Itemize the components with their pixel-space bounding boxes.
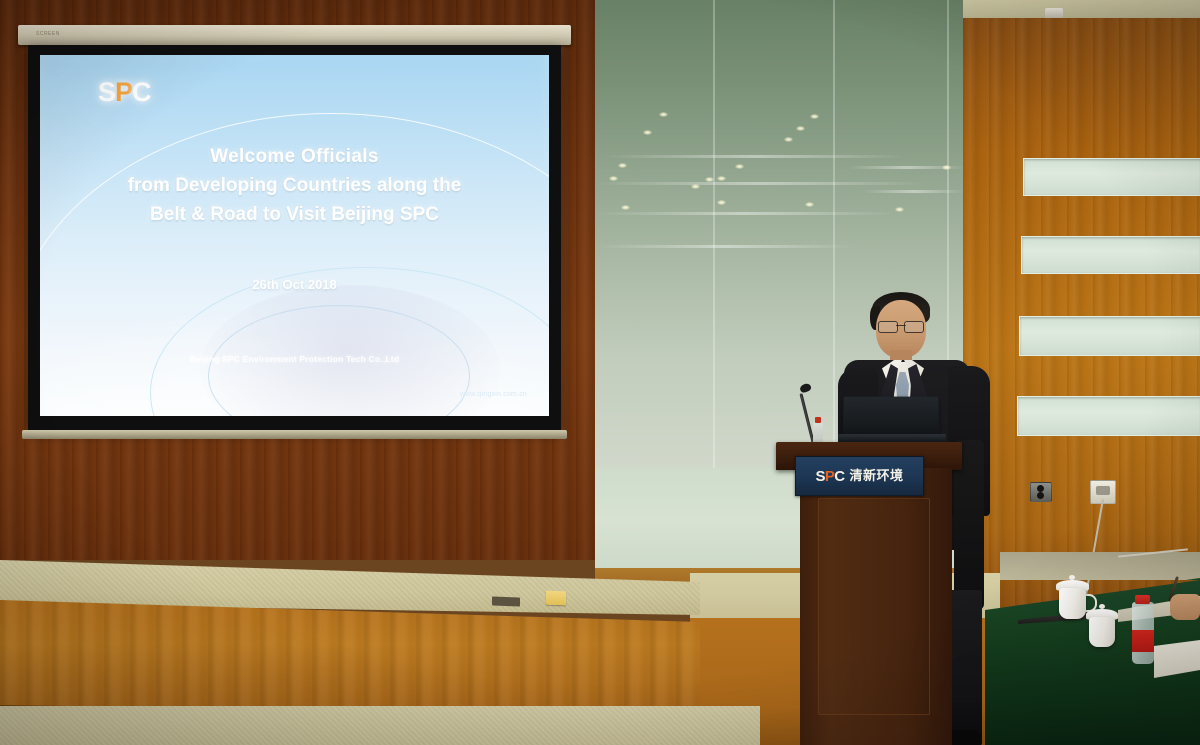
wall-glass-inset [1021, 236, 1200, 274]
speaker-legs [948, 590, 982, 740]
back-wall-strip [1000, 552, 1200, 580]
water-bottle-label [1132, 630, 1154, 652]
slide-title-line-2: from Developing Countries along the [54, 172, 535, 201]
wall-glass-inset [1019, 316, 1200, 356]
reflected-downlight [618, 163, 627, 168]
reflected-downlight [705, 177, 714, 182]
reflected-downlight [805, 202, 814, 207]
presentation-slide: SPC Welcome Officials from Developing Co… [40, 55, 549, 416]
wall-glass-inset [1023, 158, 1200, 196]
reflected-downlight [643, 130, 652, 135]
teacup [1059, 588, 1086, 619]
reflected-downlight [784, 137, 793, 142]
right-wood-wall [963, 18, 1200, 618]
water-bottle-cap [1135, 595, 1150, 604]
screen-case-label: SCREEN [36, 31, 60, 37]
reflected-downlight [942, 165, 951, 170]
podium-front-panel [818, 498, 930, 715]
podium-logo-c: C [834, 468, 844, 485]
reflected-downlight [735, 164, 744, 169]
wall-glass-inset [1017, 396, 1200, 436]
av-outlet-icon[interactable] [1030, 482, 1052, 502]
glass-mullion [833, 0, 835, 470]
podium-spc-logo: SPC [815, 469, 844, 484]
podium-logo-s: S [815, 468, 824, 485]
reflected-downlight [717, 200, 726, 205]
ceiling-reflection-strip [595, 245, 855, 248]
slide-title-line-1: Welcome Officials [54, 143, 535, 172]
spc-logo: SPC [98, 77, 151, 108]
teacup [1089, 617, 1115, 647]
reflected-downlight [717, 176, 726, 181]
slide-date: 26th Oct 2018 [40, 277, 549, 292]
glasses-lens-left [878, 321, 898, 333]
conference-photo: SCREEN SPC Welcome Officials from Develo… [0, 0, 1200, 745]
projection-screen-case: SCREEN [18, 25, 571, 45]
stage-floor-plate [492, 597, 520, 607]
podium-brand-plaque: SPC 清新环境 [795, 456, 924, 496]
slide-company-name: Beijing SPC Environment Protection Tech … [40, 354, 549, 364]
ceiling-reflection-strip [605, 155, 905, 158]
ceiling-reflection-strip [595, 182, 925, 185]
slide-title-line-3: Belt & Road to Visit Beijing SPC [54, 201, 535, 230]
projection-screen: SPC Welcome Officials from Developing Co… [28, 45, 561, 430]
glasses-lens-right [904, 321, 924, 333]
attendee-hand [1170, 594, 1200, 620]
spc-logo-p: P [115, 77, 132, 107]
stage-front-panel [0, 600, 700, 710]
ceiling-reflection-strip [863, 190, 965, 193]
reflected-downlight [691, 184, 700, 189]
projection-screen-weight-bar [22, 430, 567, 439]
glasses-icon [878, 321, 924, 331]
stage-yellow-card [546, 591, 566, 606]
reflected-downlight [895, 207, 904, 212]
glass-mullion [713, 0, 715, 470]
reflected-downlight [810, 114, 819, 119]
slide-title: Welcome Officials from Developing Countr… [40, 143, 549, 230]
spc-logo-s: S [98, 77, 115, 107]
reflected-downlight [621, 205, 630, 210]
floor-carpet [0, 706, 760, 745]
reflected-downlight [609, 176, 618, 181]
reflected-downlight [796, 126, 805, 131]
slide-website-url: www.qingxin.com.cn [460, 391, 527, 398]
podium-chinese-name: 清新环境 [850, 470, 904, 483]
ceiling-reflection-strip [595, 212, 895, 215]
podium-logo-p: P [825, 468, 834, 485]
spc-logo-c: C [132, 77, 151, 107]
reflected-downlight [659, 112, 668, 117]
